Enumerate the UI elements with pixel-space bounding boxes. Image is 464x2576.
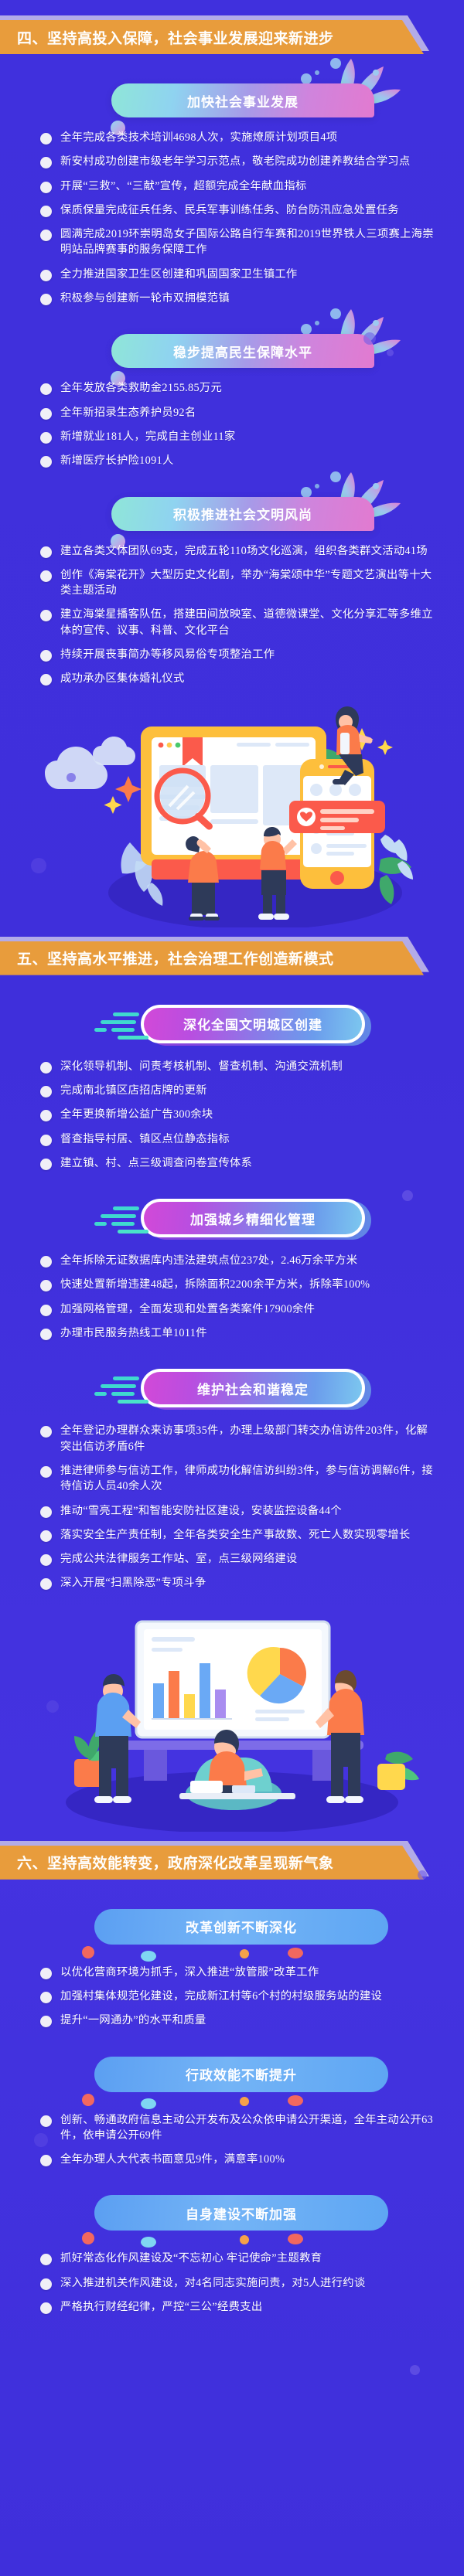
group-title-badge: 改革创新不断深化 — [94, 1909, 388, 1945]
speed-lines-icon — [94, 1205, 150, 1236]
list-item-text: 督查指导村居、镇区点位静态指标 — [60, 1131, 230, 1147]
group-title-pill: 深化全国文明城区创建 — [0, 995, 464, 1050]
list-item-text: 深入开展“扫黑除恶”专项斗争 — [60, 1575, 206, 1591]
section-heading-text: 四、坚持高投入保障，社会事业发展迎来新进步 — [0, 27, 334, 48]
group-title-pill: 自身建设不断加强 — [0, 2184, 464, 2241]
people-dashboard-charts-illustration — [0, 1600, 464, 1832]
bullet-marker-icon — [40, 1578, 52, 1590]
group-title-pill: 加强城乡精细化管理 — [0, 1189, 464, 1244]
list-item-text: 全年更换新增公益广告300余块 — [60, 1107, 213, 1122]
bullet-marker-icon — [40, 1466, 52, 1478]
bullet-marker-icon — [40, 2115, 52, 2127]
list-item: 深化领导机制、问责考核机制、督查机制、沟通交流机制 — [40, 1059, 438, 1074]
section-header-2: 六、坚持高效能转变，政府深化改革呈现新气象 — [0, 1846, 464, 1881]
bullet-marker-icon — [40, 408, 52, 420]
list-item: 全年更换新增公益广告300余块 — [40, 1107, 438, 1122]
list-item: 建立各类文体团队69支，完成五轮110场文化巡演，组织各类群文活动41场 — [40, 543, 438, 559]
group-title-badge: 加快社会事业发展 — [111, 83, 374, 117]
bullet-marker-icon — [40, 1329, 52, 1340]
group-title-badge: 深化全国文明城区创建 — [144, 1008, 362, 1040]
list-item: 新安村成功创建市级老年学习示范点，敬老院成功创建养教结合学习点 — [40, 154, 438, 169]
group-title-text: 稳步提高民生保障水平 — [173, 342, 312, 361]
list-item-text: 新增就业181人，完成自主创业11家 — [60, 429, 235, 444]
list-item: 深入推进机关作风建设，对4名同志实施问责，对5人进行约谈 — [40, 2275, 438, 2291]
list-item-text: 全年发放各类救助金2155.85万元 — [60, 380, 222, 396]
bullet-marker-icon — [40, 1159, 52, 1170]
bullet-marker-icon — [40, 1256, 52, 1268]
bullet-marker-icon — [40, 2254, 52, 2265]
infographic-page: 四、坚持高投入保障，社会事业发展迎来新进步 加快社会事业发展 全年完成各类技术培… — [0, 0, 464, 2315]
bullet-list: 建立各类文体团队69支，完成五轮110场文化巡演，组织各类群文活动41场 创作《… — [0, 534, 464, 687]
list-item: 保质保量完成征兵任务、民兵军事训练任务、防台防汛应急处置任务 — [40, 202, 438, 218]
list-item-text: 全年完成各类技术培训4698人次，实施燎原计划项目4项 — [60, 130, 337, 145]
header-bar: 五、坚持高水平推进，社会治理工作创造新模式 — [0, 941, 424, 975]
section-6: 六、坚持高效能转变，政府深化改革呈现新气象 改革创新不断深化 以优化营商环境为抓… — [0, 1832, 464, 2316]
list-item: 完成公共法律服务工作站、室，点三级网络建设 — [40, 1551, 438, 1567]
bullet-marker-icon — [40, 182, 52, 193]
bullet-marker-icon — [40, 206, 52, 217]
list-item: 督查指导村居、镇区点位静态指标 — [40, 1131, 438, 1147]
list-item-text: 建立镇、村、点三级调查问卷宣传体系 — [60, 1155, 252, 1171]
bullet-marker-icon — [40, 610, 52, 621]
people-browser-phone-illustration — [0, 696, 464, 927]
bullet-marker-icon — [40, 2302, 52, 2314]
list-item: 推动“雪亮工程”和智能安防社区建设，安装监控设备44个 — [40, 1503, 438, 1519]
list-item: 创作《海棠花开》大型历史文化剧，举办“海棠颂中华”专题文艺演出等十大类主题活动 — [40, 567, 438, 599]
bullet-marker-icon — [40, 1554, 52, 1566]
list-item-text: 推动“雪亮工程”和智能安防社区建设，安装监控设备44个 — [60, 1503, 342, 1519]
group-block: 加快社会事业发展 全年完成各类技术培训4698人次，实施燎原计划项目4项 新安村… — [0, 70, 464, 306]
group-title-text: 行政效能不断提升 — [186, 2064, 297, 2084]
bullet-list: 深化领导机制、问责考核机制、督查机制、沟通交流机制 完成南北镇区店招店牌的更新 … — [0, 1050, 464, 1171]
bullet-marker-icon — [40, 1135, 52, 1146]
group-block: 行政效能不断提升 创新、畅通政府信息主动公开发布及公众依申请公开渠道，全年主动公… — [0, 2046, 464, 2168]
list-item: 以优化营商环境为抓手，深入推进“放管服”改革工作 — [40, 1965, 438, 1980]
group-block: 改革创新不断深化 以优化营商环境为抓手，深入推进“放管服”改革工作 加强村集体规… — [0, 1898, 464, 2029]
header-bar: 四、坚持高投入保障，社会事业发展迎来新进步 — [0, 20, 424, 54]
bullet-marker-icon — [40, 2278, 52, 2290]
speed-lines-icon — [94, 1375, 150, 1406]
list-item: 创新、畅通政府信息主动公开发布及公众依申请公开渠道，全年主动公开63件，依申请公… — [40, 2112, 438, 2144]
decorative-bubble — [410, 2365, 420, 2375]
list-item-text: 保质保量完成征兵任务、民兵军事训练任务、防台防汛应急处置任务 — [60, 202, 399, 218]
group-title-text: 自身建设不断加强 — [186, 2203, 297, 2223]
list-item-text: 提升“一网通办”的水平和质量 — [60, 2013, 206, 2028]
list-item-text: 抓好常态化作风建设及“不忘初心 牢记使命”主题教育 — [60, 2251, 322, 2266]
list-item-text: 持续开展丧事简办等移风易俗专项整治工作 — [60, 647, 275, 662]
group-title-text: 深化全国文明城区创建 — [183, 1014, 322, 1033]
list-item: 成功承办区集体婚礼仪式 — [40, 671, 438, 686]
list-item-text: 新安村成功创建市级老年学习示范点，敬老院成功创建养教结合学习点 — [60, 154, 411, 169]
list-item: 抓好常态化作风建设及“不忘初心 牢记使命”主题教育 — [40, 2251, 438, 2266]
bullet-marker-icon — [40, 1280, 52, 1291]
bullet-marker-icon — [40, 1506, 52, 1518]
bullet-marker-icon — [40, 432, 52, 444]
group-title-text: 维护社会和谐稳定 — [197, 1379, 309, 1398]
group-title-pill: 行政效能不断提升 — [0, 2046, 464, 2103]
bullet-list: 全年拆除无证数据库内违法建筑点位237处，2.46万余平方米 快速处置新增违建4… — [0, 1244, 464, 1341]
group-title-pill: 改革创新不断深化 — [0, 1898, 464, 1955]
group-title-pill: 稳步提高民生保障水平 — [0, 320, 464, 371]
bullet-marker-icon — [40, 294, 52, 305]
section-4: 四、坚持高投入保障，社会事业发展迎来新进步 加快社会事业发展 全年完成各类技术培… — [0, 0, 464, 687]
list-item: 全年完成各类技术培训4698人次，实施燎原计划项目4项 — [40, 130, 438, 145]
list-item-text: 完成公共法律服务工作站、室，点三级网络建设 — [60, 1551, 298, 1567]
list-item-text: 全年办理人大代表书面意见9件，满意率100% — [60, 2152, 285, 2167]
list-item: 提升“一网通办”的水平和质量 — [40, 2013, 438, 2028]
list-item: 深入开展“扫黑除恶”专项斗争 — [40, 1575, 438, 1591]
list-item-text: 创作《海棠花开》大型历史文化剧，举办“海棠颂中华”专题文艺演出等十大类主题活动 — [60, 567, 438, 599]
list-item-text: 建立各类文体团队69支，完成五轮110场文化巡演，组织各类群文活动41场 — [60, 543, 428, 559]
group-block: 深化全国文明城区创建 深化领导机制、问责考核机制、督查机制、沟通交流机制 完成南… — [0, 995, 464, 1171]
bullet-marker-icon — [40, 570, 52, 582]
list-item: 积极参与创建新一轮市双拥模范镇 — [40, 291, 438, 306]
list-item-text: 严格执行财经纪律，严控“三公”经费支出 — [60, 2299, 262, 2315]
plant-right — [377, 1751, 419, 1789]
list-item: 办理市民服务热线工单1011件 — [40, 1325, 438, 1341]
group-title-pill: 维护社会和谐稳定 — [0, 1359, 464, 1414]
bullet-marker-icon — [40, 383, 52, 395]
bullet-marker-icon — [40, 230, 52, 241]
list-item-text: 全年拆除无证数据库内违法建筑点位237处，2.46万余平方米 — [60, 1253, 357, 1268]
bullet-marker-icon — [40, 650, 52, 662]
group-title-text: 改革创新不断深化 — [186, 1917, 297, 1936]
speed-lines-icon — [94, 1011, 150, 1042]
list-item: 建立镇、村、点三级调查问卷宣传体系 — [40, 1155, 438, 1171]
bullet-marker-icon — [40, 1110, 52, 1121]
list-item: 落实安全生产责任制，全年各类安全生产事故数、死亡人数实现零增长 — [40, 1527, 438, 1543]
list-item-text: 全年新招录生态养护员92名 — [60, 405, 196, 420]
list-item: 加强网格管理，全面发现和处置各类案件17900余件 — [40, 1302, 438, 1317]
list-item-text: 加强网格管理，全面发现和处置各类案件17900余件 — [60, 1302, 315, 1317]
bullet-marker-icon — [40, 456, 52, 468]
group-title-text: 积极推进社会文明风尚 — [173, 504, 312, 523]
list-item: 推进律师参与信访工作，律师成功化解信访纠纷3件，参与信访调解6件，接待信访人员4… — [40, 1463, 438, 1495]
list-item: 持续开展丧事简办等移风易俗专项整治工作 — [40, 647, 438, 662]
list-item-text: 以优化营商环境为抓手，深入推进“放管服”改革工作 — [60, 1965, 319, 1980]
bullet-marker-icon — [40, 1426, 52, 1438]
list-item-text: 加强村集体规范化建设，完成新江村等6个村的村级服务站的建设 — [60, 1989, 382, 2004]
section-5: 五、坚持高水平推进，社会治理工作创造新模式 深化全国文明城区创建 深化领导机制、… — [0, 927, 464, 1591]
list-item-text: 办理市民服务热线工单1011件 — [60, 1325, 207, 1341]
list-item-text: 快速处置新增违建48起，拆除面积2200余平方米，拆除率100% — [60, 1277, 370, 1292]
group-title-text: 加快社会事业发展 — [187, 91, 299, 111]
group-title-pill: 积极推进社会文明风尚 — [0, 483, 464, 534]
list-item: 加强村集体规范化建设，完成新江村等6个村的村级服务站的建设 — [40, 1989, 438, 2004]
bullet-marker-icon — [40, 270, 52, 281]
bullet-list: 创新、畅通政府信息主动公开发布及公众依申请公开渠道，全年主动公开63件，依申请公… — [0, 2103, 464, 2168]
list-item-text: 新增医疗长护险1091人 — [60, 453, 174, 468]
bullet-list: 抓好常态化作风建设及“不忘初心 牢记使命”主题教育 深入推进机关作风建设，对4名… — [0, 2241, 464, 2315]
list-item: 开展“三救”、“三献”宣传，超额完成全年献血指标 — [40, 179, 438, 194]
section-heading-text: 六、坚持高效能转变，政府深化改革呈现新气象 — [0, 1852, 334, 1873]
list-item: 全年登记办理群众来访事项35件，办理上级部门转交办信访件203件，化解突出信访矛… — [40, 1423, 438, 1455]
bullet-marker-icon — [40, 1530, 52, 1542]
header-bar: 六、坚持高效能转变，政府深化改革呈现新气象 — [0, 1846, 424, 1880]
group-title-text: 加强城乡精细化管理 — [190, 1209, 316, 1228]
section-header-0: 四、坚持高投入保障，社会事业发展迎来新进步 — [0, 20, 464, 56]
group-title-badge: 维护社会和谐稳定 — [144, 1372, 362, 1404]
list-item-text: 完成南北镇区店招店牌的更新 — [60, 1083, 207, 1098]
list-item-text: 圆满完成2019环崇明岛女子国际公路自行车赛和2019世界铁人三项赛上海崇明站品… — [60, 226, 438, 258]
list-item-text: 建立海棠星播客队伍，搭建田间放映室、道德微课堂、文化分享汇等多维立体的宣传、议事… — [60, 607, 438, 638]
group-block: 积极推进社会文明风尚 建立各类文体团队69支，完成五轮110场文化巡演，组织各类… — [0, 483, 464, 687]
list-item: 全年办理人大代表书面意见9件，满意率100% — [40, 2152, 438, 2167]
bullet-list: 全年登记办理群众来访事项35件，办理上级部门转交办信访件203件，化解突出信访矛… — [0, 1414, 464, 1591]
list-item: 新增就业181人，完成自主创业11家 — [40, 429, 438, 444]
section-heading-text: 五、坚持高水平推进，社会治理工作创造新模式 — [0, 948, 334, 968]
list-item: 快速处置新增违建48起，拆除面积2200余平方米，拆除率100% — [40, 1277, 438, 1292]
bullet-list: 全年完成各类技术培训4698人次，实施燎原计划项目4项 新安村成功创建市级老年学… — [0, 121, 464, 306]
group-title-badge: 加强城乡精细化管理 — [144, 1202, 362, 1234]
group-title-pill: 加快社会事业发展 — [0, 70, 464, 121]
list-item-text: 深化领导机制、问责考核机制、督查机制、沟通交流机制 — [60, 1059, 343, 1074]
bullet-list: 以优化营商环境为抓手，深入推进“放管服”改革工作 加强村集体规范化建设，完成新江… — [0, 1955, 464, 2029]
list-item-text: 落实安全生产责任制，全年各类安全生产事故数、死亡人数实现零增长 — [60, 1527, 411, 1543]
list-item-text: 成功承办区集体婚礼仪式 — [60, 671, 185, 686]
bullet-marker-icon — [40, 1992, 52, 2003]
bullet-marker-icon — [40, 157, 52, 168]
list-item: 全力推进国家卫生区创建和巩固国家卫生镇工作 — [40, 267, 438, 282]
bullet-marker-icon — [40, 546, 52, 558]
list-item-text: 全力推进国家卫生区创建和巩固国家卫生镇工作 — [60, 267, 298, 282]
list-item: 全年发放各类救助金2155.85万元 — [40, 380, 438, 396]
list-item-text: 积极参与创建新一轮市双拥模范镇 — [60, 291, 230, 306]
group-block: 加强城乡精细化管理 全年拆除无证数据库内违法建筑点位237处，2.46万余平方米… — [0, 1189, 464, 1341]
bullet-marker-icon — [40, 674, 52, 686]
list-item: 全年新招录生态养护员92名 — [40, 405, 438, 420]
list-item: 圆满完成2019环崇明岛女子国际公路自行车赛和2019世界铁人三项赛上海崇明站品… — [40, 226, 438, 258]
list-item-text: 推进律师参与信访工作，律师成功化解信访纠纷3件，参与信访调解6件，接待信访人员4… — [60, 1463, 438, 1495]
bullet-list: 全年发放各类救助金2155.85万元 全年新招录生态养护员92名 新增就业181… — [0, 371, 464, 468]
list-item: 建立海棠星播客队伍，搭建田间放映室、道德微课堂、文化分享汇等多维立体的宣传、议事… — [40, 607, 438, 638]
list-item: 严格执行财经纪律，严控“三公”经费支出 — [40, 2299, 438, 2315]
list-item: 完成南北镇区店招店牌的更新 — [40, 1083, 438, 1098]
bullet-marker-icon — [40, 1086, 52, 1097]
bullet-marker-icon — [40, 1305, 52, 1316]
group-title-badge: 积极推进社会文明风尚 — [111, 497, 374, 531]
list-item-text: 开展“三救”、“三献”宣传，超额完成全年献血指标 — [60, 179, 307, 194]
bullet-marker-icon — [40, 2016, 52, 2027]
bullet-marker-icon — [40, 1968, 52, 1979]
bullet-marker-icon — [40, 133, 52, 145]
bullet-marker-icon — [40, 1062, 52, 1074]
list-item-text: 全年登记办理群众来访事项35件，办理上级部门转交办信访件203件，化解突出信访矛… — [60, 1423, 438, 1455]
bullet-marker-icon — [40, 2155, 52, 2166]
group-title-badge: 稳步提高民生保障水平 — [111, 334, 374, 368]
group-title-badge: 行政效能不断提升 — [94, 2057, 388, 2092]
group-block: 稳步提高民生保障水平 全年发放各类救助金2155.85万元 全年新招录生态养护员… — [0, 320, 464, 468]
group-block: 自身建设不断加强 抓好常态化作风建设及“不忘初心 牢记使命”主题教育 深入推进机… — [0, 2184, 464, 2315]
list-item: 全年拆除无证数据库内违法建筑点位237处，2.46万余平方米 — [40, 1253, 438, 1268]
list-item: 新增医疗长护险1091人 — [40, 453, 438, 468]
list-item-text: 深入推进机关作风建设，对4名同志实施问责，对5人进行约谈 — [60, 2275, 365, 2291]
section-header-1: 五、坚持高水平推进，社会治理工作创造新模式 — [0, 941, 464, 977]
list-item-text: 创新、畅通政府信息主动公开发布及公众依申请公开渠道，全年主动公开63件，依申请公… — [60, 2112, 438, 2144]
group-block: 维护社会和谐稳定 全年登记办理群众来访事项35件，办理上级部门转交办信访件203… — [0, 1359, 464, 1591]
group-title-badge: 自身建设不断加强 — [94, 2195, 388, 2231]
